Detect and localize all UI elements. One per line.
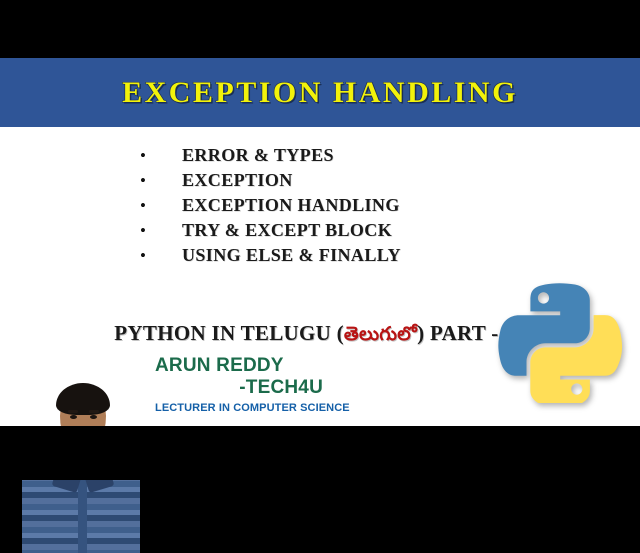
letterbox-top <box>0 0 640 58</box>
list-item: • ERROR & TYPES <box>140 145 480 170</box>
list-item: • USING ELSE & FINALLY <box>140 245 480 270</box>
title-banner: EXCEPTION HANDLING <box>0 58 640 127</box>
subtitle-telugu: తెలుగులో <box>344 323 417 345</box>
letterbox-bottom <box>0 426 640 480</box>
watermark-handle: -TECH4U <box>155 377 323 399</box>
python-logo <box>496 275 624 403</box>
list-item-label: EXCEPTION HANDLING <box>182 195 400 216</box>
python-logo-icon <box>496 275 624 403</box>
list-item-label: ERROR & TYPES <box>182 145 334 166</box>
list-item-label: EXCEPTION <box>182 170 293 191</box>
presenter-eye-right <box>90 415 97 419</box>
list-item: • EXCEPTION HANDLING <box>140 195 480 220</box>
bullet-icon: • <box>140 222 182 239</box>
slide-canvas: EXCEPTION HANDLING • ERROR & TYPES • EXC… <box>0 0 640 480</box>
presenter-eyebrow-right <box>89 410 99 413</box>
page-title: EXCEPTION HANDLING <box>122 76 518 110</box>
bullet-icon: • <box>140 197 182 214</box>
topic-list: • ERROR & TYPES • EXCEPTION • EXCEPTION … <box>140 145 480 270</box>
list-item: • TRY & EXCEPT BLOCK <box>140 220 480 245</box>
channel-watermark: ARUN REDDY -TECH4U LECTURER IN COMPUTER … <box>155 356 405 414</box>
list-item-label: USING ELSE & FINALLY <box>182 245 401 266</box>
subtitle-before: PYTHON IN TELUGU ( <box>114 321 344 345</box>
watermark-designation: LECTURER IN COMPUTER SCIENCE <box>155 402 405 414</box>
bullet-icon: • <box>140 172 182 189</box>
shirt-placket <box>78 474 87 553</box>
presenter-eye-left <box>70 415 77 419</box>
watermark-name: ARUN REDDY <box>155 356 405 376</box>
bullet-icon: • <box>140 247 182 264</box>
slide-body: • ERROR & TYPES • EXCEPTION • EXCEPTION … <box>0 127 640 426</box>
list-item: • EXCEPTION <box>140 170 480 195</box>
presenter-eyebrow-left <box>68 410 78 413</box>
bullet-icon: • <box>140 147 182 164</box>
list-item-label: TRY & EXCEPT BLOCK <box>182 220 392 241</box>
